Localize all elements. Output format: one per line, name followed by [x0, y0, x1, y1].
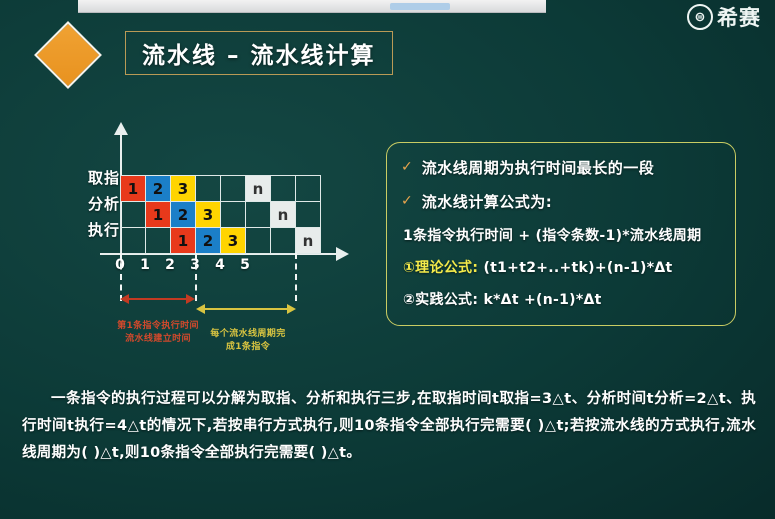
panel-bullet-1-text: 流水线周期为执行时间最长的一段 — [422, 157, 655, 178]
pipeline-cell-r1-c3: 3 — [196, 202, 221, 228]
measure-right-arrow-icon — [287, 304, 296, 314]
x-tick-4: 4 — [211, 257, 229, 273]
formula-theory-label: ①理论公式: — [403, 260, 478, 276]
pipeline-cell-r2-c6 — [271, 228, 296, 254]
row-label-execute: 执行 — [74, 219, 120, 240]
measure-per-cycle — [196, 308, 296, 310]
info-panel: ✓ 流水线周期为执行时间最长的一段 ✓ 流水线计算公式为: 1条指令执行时间 +… — [386, 142, 736, 326]
y-axis-arrow-icon — [114, 122, 128, 135]
measure-bar — [128, 298, 187, 300]
formula-theory: ①理论公式: (t1+t2+..+tk)+(n-1)*Δt — [403, 257, 721, 277]
check-icon: ✓ — [401, 191, 413, 208]
x-tick-2: 2 — [161, 257, 179, 273]
pipeline-cell-r1-c0 — [121, 202, 146, 228]
pipeline-cell-r1-c4 — [221, 202, 246, 228]
formula-practice: ②实践公式: k*Δt +(n-1)*Δt — [403, 289, 721, 309]
formula-general: 1条指令执行时间 + (指令条数-1)*流水线周期 — [403, 225, 721, 245]
formula-theory-body: (t1+t2+..+tk)+(n-1)*Δt — [483, 260, 672, 276]
x-tick-5: 5 — [236, 257, 254, 273]
pipeline-cell-r0-c6 — [271, 176, 296, 202]
app-chrome-bar — [78, 0, 546, 13]
pipeline-grid: 123n123n123n — [120, 175, 321, 254]
pipeline-cell-r0-c7 — [296, 176, 321, 202]
pipeline-cell-r2-c5 — [246, 228, 271, 254]
pipeline-cell-r2-c1 — [146, 228, 171, 254]
row-label-decode: 分析 — [74, 193, 120, 214]
pipeline-cell-r2-c4: 3 — [221, 228, 246, 254]
pipeline-cell-r1-c1: 1 — [146, 202, 171, 228]
row-label-fetch: 取指 — [74, 167, 120, 188]
pipeline-cell-r1-c6: n — [271, 202, 296, 228]
pipeline-cell-r0-c3 — [196, 176, 221, 202]
brand-logo-text: 希赛 — [717, 2, 761, 32]
x-axis-arrow-icon — [336, 247, 349, 261]
measure-right-arrow-icon — [186, 294, 195, 304]
measure-caption-per-cycle: 每个流水线周期完成1条指令 — [196, 328, 300, 354]
page-title-box: 流水线 – 流水线计算 — [125, 31, 393, 75]
pipeline-cell-r1-c2: 2 — [171, 202, 196, 228]
pipeline-cell-r2-c3: 2 — [196, 228, 221, 254]
pipeline-cell-r0-c4 — [221, 176, 246, 202]
check-icon: ✓ — [401, 157, 413, 174]
pipeline-cell-r2-c7: n — [296, 228, 321, 254]
pipeline-cell-r2-c0 — [121, 228, 146, 254]
formula-practice-body: k*Δt +(n-1)*Δt — [483, 292, 601, 308]
chrome-tab-indicator — [390, 3, 450, 10]
guide-line-end — [295, 253, 297, 301]
measure-first-instruction — [120, 298, 195, 300]
x-tick-1: 1 — [136, 257, 154, 273]
formula-practice-label: ②实践公式: — [403, 292, 478, 308]
pipeline-cell-r2-c2: 1 — [171, 228, 196, 254]
panel-bullet-1: ✓ 流水线周期为执行时间最长的一段 — [401, 157, 721, 178]
pipeline-cell-r1-c5 — [246, 202, 271, 228]
guide-line-mid — [195, 253, 197, 301]
pipeline-cell-r1-c7 — [296, 202, 321, 228]
pipeline-diagram: 取指 分析 执行 123n123n123n 012345 第1条指令执行时间流水… — [0, 110, 380, 370]
pipeline-cell-r0-c0: 1 — [121, 176, 146, 202]
question-paragraph: 一条指令的执行过程可以分解为取指、分析和执行三步,在取指时间t取指=3△t、分析… — [22, 386, 756, 466]
pipeline-cell-r0-c1: 2 — [146, 176, 171, 202]
brand-logo-icon: ⊜ — [687, 4, 713, 30]
pipeline-cell-r0-c2: 3 — [171, 176, 196, 202]
panel-bullet-2-text: 流水线计算公式为: — [422, 191, 553, 212]
page-title: 流水线 – 流水线计算 — [142, 36, 376, 70]
panel-bullet-2: ✓ 流水线计算公式为: — [401, 191, 721, 212]
brand-logo: ⊜ 希赛 — [687, 2, 761, 32]
pipeline-cell-r0-c5: n — [246, 176, 271, 202]
measure-bar — [204, 308, 288, 310]
